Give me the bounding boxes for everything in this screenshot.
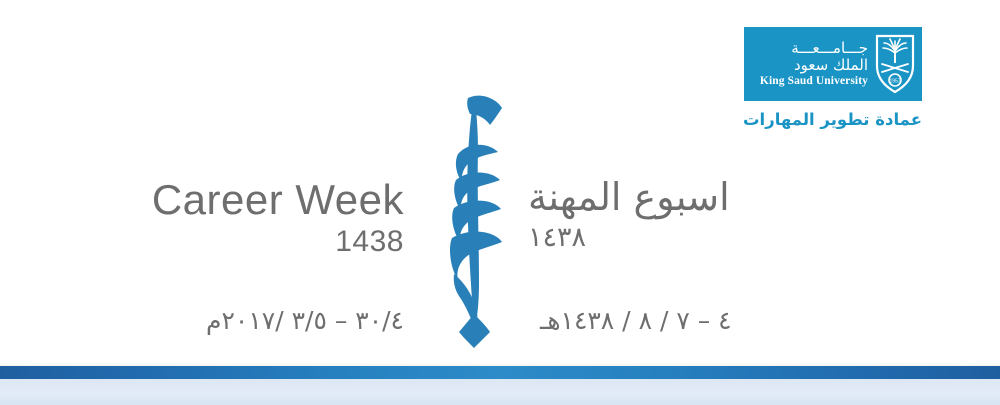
saudi-emblem-icon: 1957 [874,34,916,94]
page-title-english: Career Week [0,178,404,222]
footer-gradient-stripe [0,366,1000,379]
gregorian-date: ٣٠/٤ – ٣/٥ /٢٠١٧م [0,306,404,335]
ksu-wordmark: جـــامـــعـــة الملك سعود King Saud Univ… [752,41,874,88]
ksu-logo-box: جـــامـــعـــة الملك سعود King Saud Univ… [744,27,922,101]
page-title-arabic: اسبوع المهنة [528,176,888,220]
arabic-title-block: اسبوع المهنة ١٤٣٨ [528,176,888,255]
year-english: 1438 [0,222,404,263]
ksu-logo-block: جـــامـــعـــة الملك سعود King Saud Univ… [744,27,922,129]
arabic-calligraphy-ornament-icon [428,92,524,348]
ksu-arabic-line-2: الملك سعود [794,58,868,73]
english-title-block: Career Week 1438 [0,178,404,263]
deanship-label: عمادة تطوير المهارات [744,110,922,129]
year-arabic: ١٤٣٨ [528,220,888,255]
footer-pale-band [0,379,1000,405]
ksu-english-name: King Saud University [760,76,868,88]
ksu-arabic-line-1: جـــامـــعـــة [791,41,868,56]
career-week-banner: جـــامـــعـــة الملك سعود King Saud Univ… [0,0,1000,405]
svg-text:1957: 1957 [889,78,900,84]
hijri-date: ٤ – ٧ / ٨ / ١٤٣٨هـ [540,306,900,335]
